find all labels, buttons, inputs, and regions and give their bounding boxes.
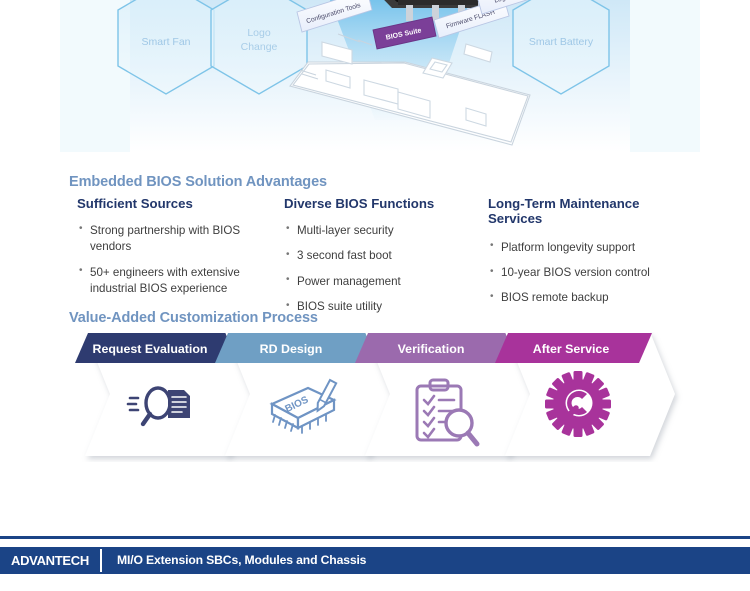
column-title: Sufficient Sources xyxy=(77,197,253,212)
step-label: After Service xyxy=(533,342,610,356)
advantage-column-sufficient-sources: Sufficient Sources Strong partnership wi… xyxy=(77,197,253,307)
footer-bar xyxy=(0,547,750,574)
list-item: Strong partnership with BIOS vendors xyxy=(77,223,253,256)
column-title: Diverse BIOS Functions xyxy=(284,197,460,212)
hexagon-label: Smart Battery xyxy=(529,36,594,48)
list-item: Multi-layer security xyxy=(284,223,460,239)
advantages-section-heading: Embedded BIOS Solution Advantages xyxy=(69,174,327,190)
list-item: 50+ engineers with extensive industrial … xyxy=(77,265,253,298)
list-item: Platform longevity support xyxy=(488,240,688,256)
hexagon-label-line1: Logo xyxy=(247,27,271,39)
customization-process-flow: Request Evaluation xyxy=(0,332,750,462)
step-label: Request Evaluation xyxy=(93,342,208,356)
hero-background-right xyxy=(630,0,700,152)
hexagon-label: Smart Fan xyxy=(141,36,190,48)
advantage-list: Multi-layer security 3 second fast boot … xyxy=(284,223,460,316)
footer-divider-rule xyxy=(0,536,750,539)
advantech-logo: ADVANTECH xyxy=(11,553,89,568)
advantage-list: Platform longevity support 10-year BIOS … xyxy=(488,240,688,307)
advantage-list: Strong partnership with BIOS vendors 50+… xyxy=(77,223,253,298)
advantage-column-diverse-bios-functions: Diverse BIOS Functions Multi-layer secur… xyxy=(284,197,460,325)
footer-title: MI/O Extension SBCs, Modules and Chassis xyxy=(117,553,366,567)
list-item: Power management xyxy=(284,274,460,290)
column-title: Long-Term Maintenance Services xyxy=(488,197,688,227)
advantage-column-long-term-maintenance-services: Long-Term Maintenance Services Platform … xyxy=(488,197,688,316)
hexagon-label-line2: Change xyxy=(241,41,278,53)
hero-illustration: Smart Fan Logo Change Smart Battery Pane… xyxy=(0,0,750,160)
gear-wrench-icon xyxy=(545,371,611,437)
list-item: 3 second fast boot xyxy=(284,248,460,264)
process-section-heading: Value-Added Customization Process xyxy=(69,310,318,326)
step-label: RD Design xyxy=(260,342,323,356)
step-label: Verification xyxy=(398,342,465,356)
list-item: 10-year BIOS version control xyxy=(488,265,688,281)
footer-logo-separator xyxy=(100,549,102,572)
list-item: BIOS remote backup xyxy=(488,290,688,306)
